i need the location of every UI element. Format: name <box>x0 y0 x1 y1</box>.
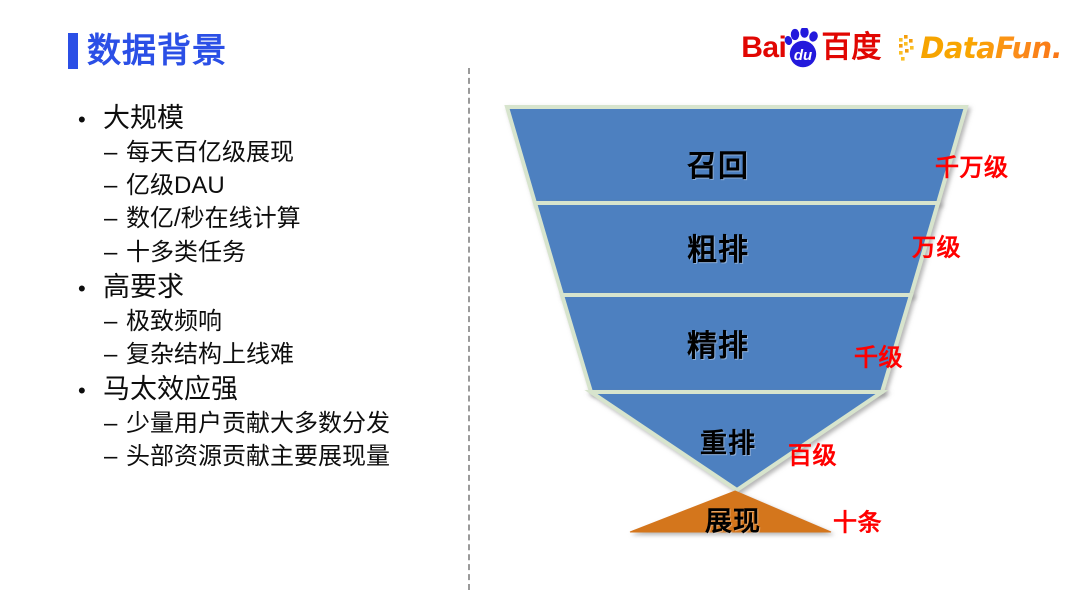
dash-icon: – <box>104 338 126 371</box>
list-item-label: 大规模 <box>100 100 184 136</box>
dash-icon: – <box>104 136 126 169</box>
bullet-dot-icon: • <box>78 109 100 131</box>
baidu-logo: Bai du 百度 <box>741 28 881 68</box>
list-item-label: 极致频响 <box>126 305 222 338</box>
list-item-level1: • 高要求 <box>78 269 458 305</box>
list-item-label: 每天百亿级展现 <box>126 136 294 169</box>
list-item-label: 十多类任务 <box>126 236 246 269</box>
dash-icon: – <box>104 440 126 473</box>
list-item-level1: • 马太效应强 <box>78 371 458 407</box>
list-item-label: 复杂结构上线难 <box>126 338 294 371</box>
list-item-level2: – 亿级DAU <box>78 169 458 202</box>
bullet-dot-icon: • <box>78 380 100 402</box>
dash-icon: – <box>104 407 126 440</box>
funnel-scale-coarse-rank: 万级 <box>912 228 961 263</box>
bullet-dot-icon: • <box>78 278 100 300</box>
content-group: • 马太效应强 – 少量用户贡献大多数分发 – 头部资源贡献主要展现量 <box>78 371 458 473</box>
content-group: • 大规模 – 每天百亿级展现 – 亿级DAU – 数亿/秒在线计算 – 十多类… <box>78 100 458 269</box>
funnel-label-fine-rank: 精排 <box>687 321 749 365</box>
list-item-level2: – 极致频响 <box>78 305 458 338</box>
datafun-logo-text: DataFun. <box>920 34 1062 63</box>
list-item-level2: – 复杂结构上线难 <box>78 338 458 371</box>
datafun-logo: DataFun. <box>899 30 1062 66</box>
list-item-level1: • 大规模 <box>78 100 458 136</box>
funnel-scale-recall: 千万级 <box>935 148 1009 183</box>
svg-text:du: du <box>794 47 812 64</box>
title-text: 数据背景 <box>87 34 227 68</box>
funnel-label-recall: 召回 <box>687 141 749 185</box>
funnel-scale-display: 十条 <box>833 503 882 538</box>
list-item-label: 头部资源贡献主要展现量 <box>126 440 390 473</box>
funnel-label-re-rank: 重排 <box>700 422 756 461</box>
list-item-level2: – 数亿/秒在线计算 <box>78 202 458 235</box>
dash-icon: – <box>104 305 126 338</box>
dash-icon: – <box>104 202 126 235</box>
content-group: • 高要求 – 极致频响 – 复杂结构上线难 <box>78 269 458 371</box>
datafun-dots-icon <box>899 35 919 61</box>
list-item-level2: – 每天百亿级展现 <box>78 136 458 169</box>
baidu-logo-chinese: 百度 <box>821 33 881 63</box>
page-title: 数据背景 <box>68 33 227 69</box>
list-item-label: 少量用户贡献大多数分发 <box>126 407 390 440</box>
list-item-label: 马太效应强 <box>100 371 238 407</box>
baidu-paw-icon: du <box>784 28 822 68</box>
list-item-label: 高要求 <box>100 269 184 305</box>
vertical-dashed-divider <box>468 68 470 590</box>
funnel-label-display: 展现 <box>705 500 761 539</box>
list-item-level2: – 头部资源贡献主要展现量 <box>78 440 458 473</box>
dash-icon: – <box>104 169 126 202</box>
funnel-scale-fine-rank: 千级 <box>854 338 903 373</box>
dash-icon: – <box>104 236 126 269</box>
funnel-diagram: 召回 粗排 精排 重排 展现 千万级 万级 千级 百级 十条 <box>490 90 1070 560</box>
list-item-label: 数亿/秒在线计算 <box>126 202 301 235</box>
content-list: • 大规模 – 每天百亿级展现 – 亿级DAU – 数亿/秒在线计算 – 十多类… <box>78 100 458 473</box>
baidu-logo-latin: Bai <box>741 33 786 63</box>
list-item-label: 亿级DAU <box>126 169 225 202</box>
title-accent-bar <box>68 33 78 69</box>
list-item-level2: – 十多类任务 <box>78 236 458 269</box>
logo-row: Bai du 百度 <box>741 26 1062 70</box>
funnel-label-coarse-rank: 粗排 <box>687 225 749 269</box>
list-item-level2: – 少量用户贡献大多数分发 <box>78 407 458 440</box>
funnel-scale-re-rank: 百级 <box>788 436 837 471</box>
